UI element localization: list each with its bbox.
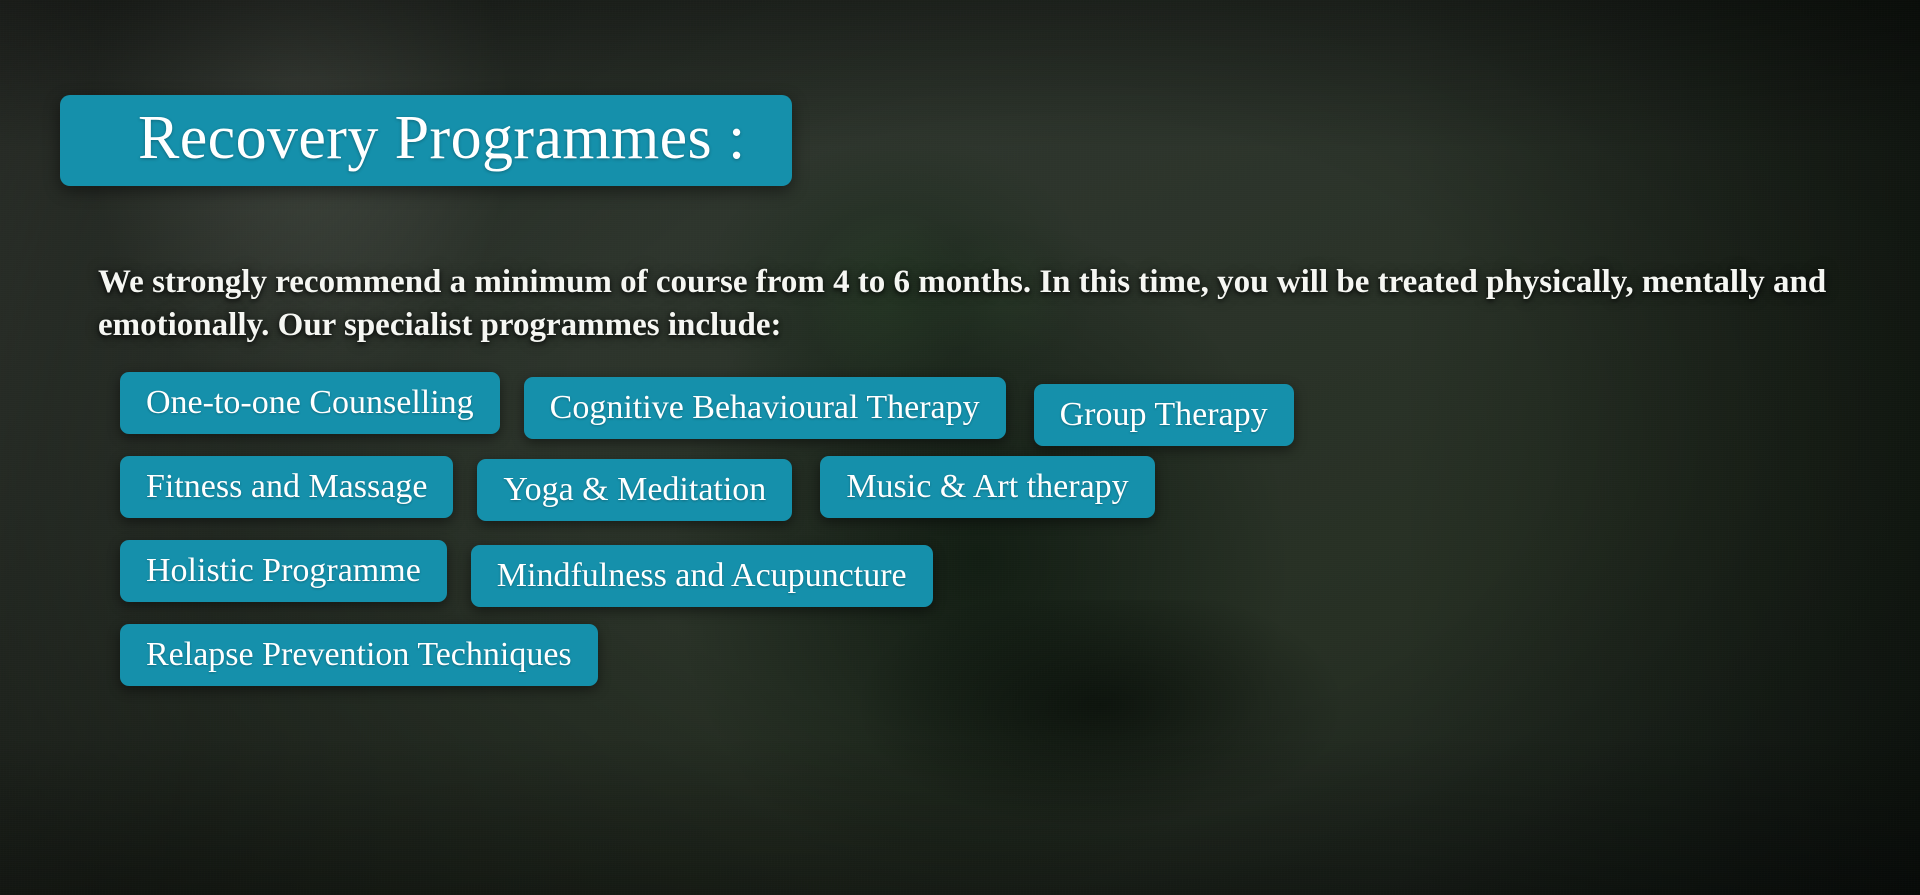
programmes-row-4: Relapse Prevention Techniques (120, 624, 1840, 686)
programme-button-cognitive-behavioural-therapy[interactable]: Cognitive Behavioural Therapy (524, 377, 1006, 439)
programme-button-one-to-one-counselling[interactable]: One-to-one Counselling (120, 372, 500, 434)
programme-button-fitness-and-massage[interactable]: Fitness and Massage (120, 456, 453, 518)
programmes-list: One-to-one Counselling Cognitive Behavio… (120, 372, 1840, 708)
programmes-row-2: Fitness and Massage Yoga & Meditation Mu… (120, 456, 1840, 518)
intro-paragraph: We strongly recommend a minimum of cours… (98, 261, 1838, 347)
programme-button-yoga-and-meditation[interactable]: Yoga & Meditation (477, 459, 792, 521)
hero-section: Recovery Programmes : We strongly recomm… (0, 0, 1920, 895)
page-title-banner: Recovery Programmes : (60, 95, 792, 186)
programme-button-group-therapy[interactable]: Group Therapy (1034, 384, 1294, 446)
hero-content: Recovery Programmes : We strongly recomm… (0, 0, 1920, 895)
programme-button-relapse-prevention-techniques[interactable]: Relapse Prevention Techniques (120, 624, 598, 686)
programmes-row-1: One-to-one Counselling Cognitive Behavio… (120, 372, 1840, 434)
programmes-row-3: Holistic Programme Mindfulness and Acupu… (120, 540, 1840, 602)
programme-button-holistic-programme[interactable]: Holistic Programme (120, 540, 447, 602)
page-title: Recovery Programmes : (138, 105, 746, 172)
programme-button-mindfulness-and-acupuncture[interactable]: Mindfulness and Acupuncture (471, 545, 933, 607)
programme-button-music-and-art-therapy[interactable]: Music & Art therapy (820, 456, 1154, 518)
